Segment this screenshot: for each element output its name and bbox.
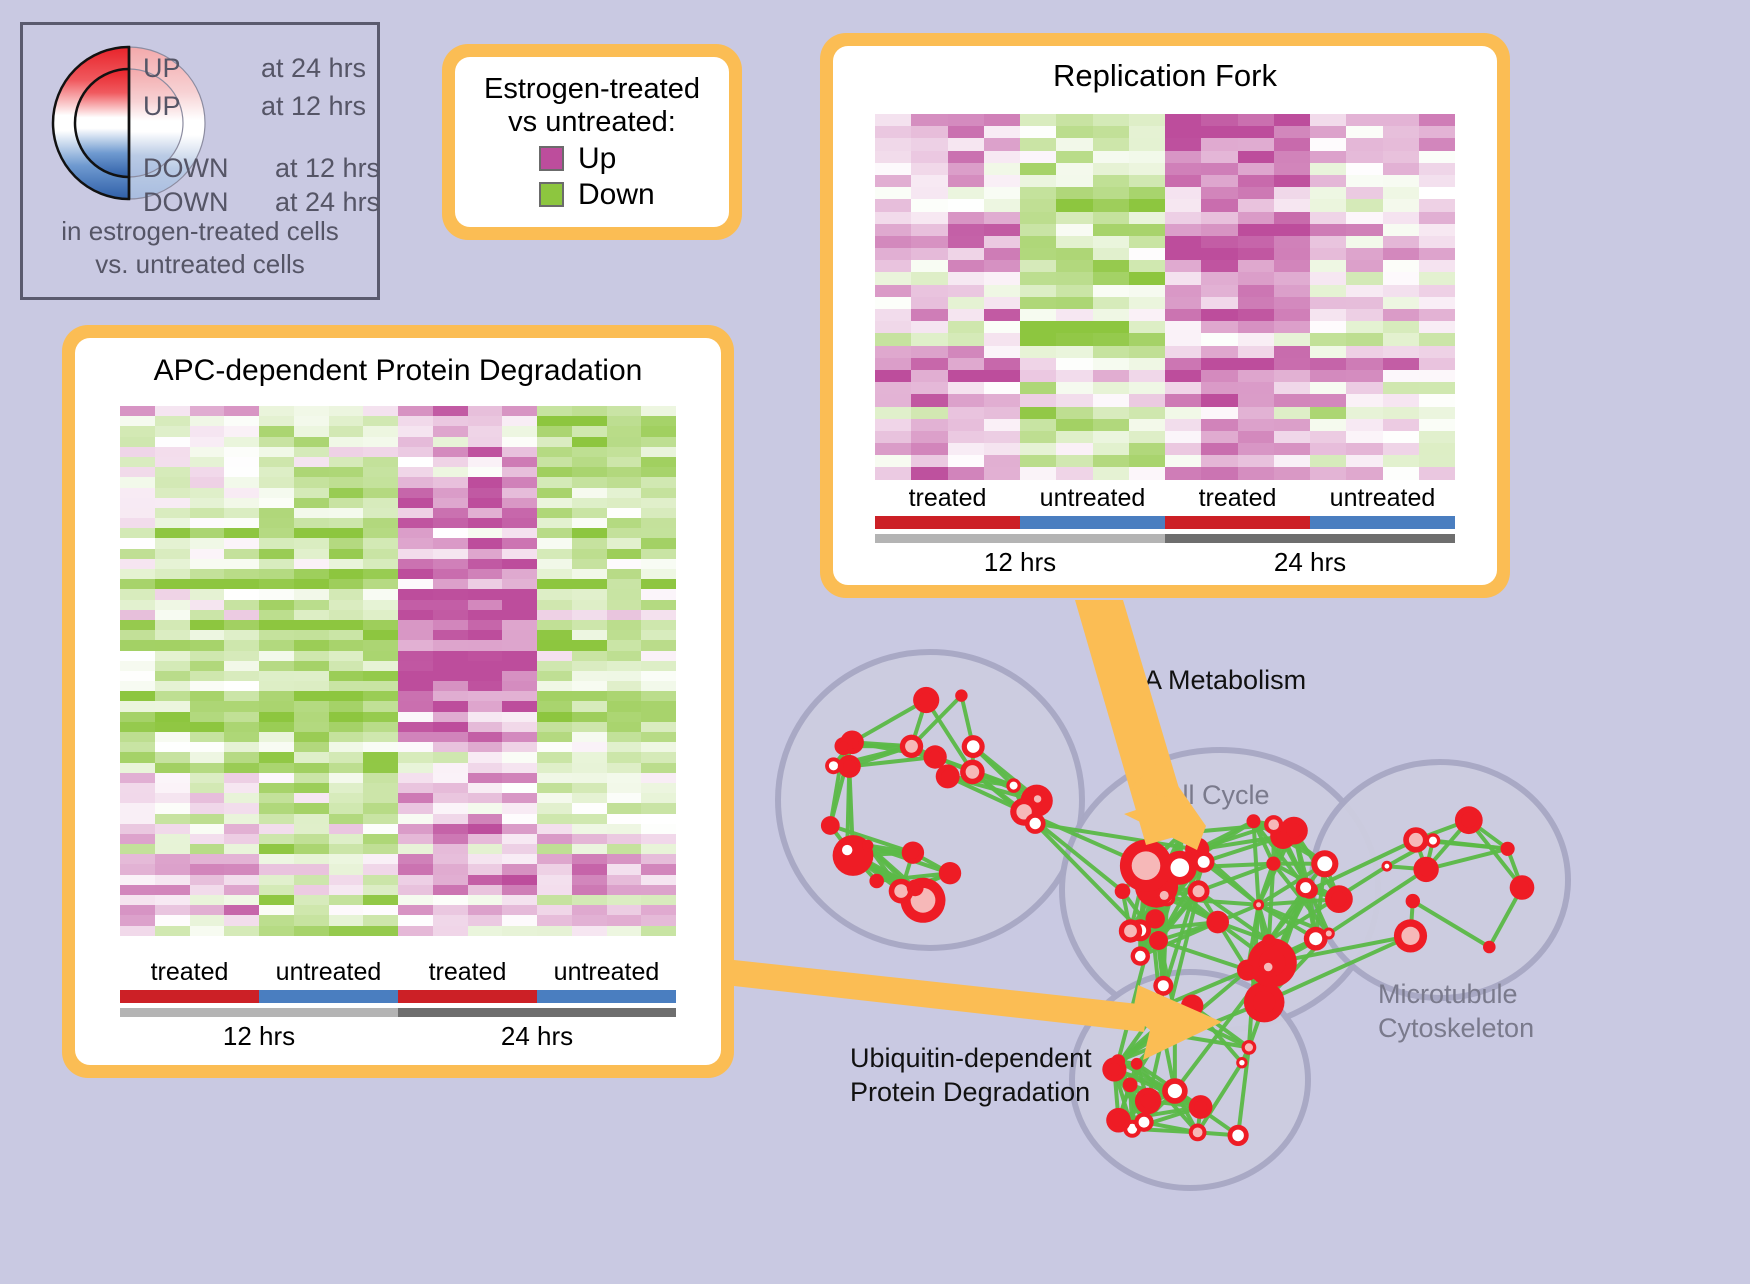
network-svg: [770, 600, 1750, 1279]
color-key-box: UP at 24 hrs UP at 12 hrs DOWN at 12 hrs…: [20, 22, 380, 300]
cluster-label-cytoskeleton: Cytoskeleton: [1378, 1012, 1534, 1045]
heatmap-apc: [120, 406, 676, 936]
network-node: [1244, 982, 1285, 1023]
legend-label-up: Up: [578, 142, 616, 176]
color-bar-segment-0: [120, 1008, 398, 1017]
network-node: [1168, 1005, 1182, 1019]
network-node: [1006, 778, 1021, 793]
legend-title-line2: vs untreated:: [465, 106, 719, 139]
network-node: [1119, 919, 1142, 942]
color-bar-segment-0: [875, 516, 1020, 529]
key-time-1: at 12 hrs: [261, 91, 366, 122]
network-node: [862, 840, 873, 851]
network-node: [1253, 899, 1264, 910]
network-node: [1406, 894, 1420, 908]
network-node: [1266, 857, 1280, 871]
key-word-3: DOWN: [143, 187, 228, 218]
network-node: [1510, 875, 1535, 900]
network-node: [1153, 976, 1173, 996]
network-node: [923, 745, 946, 768]
network-node: [955, 689, 967, 701]
network-node: [1131, 946, 1150, 965]
color-bar-segment-1: [1165, 534, 1455, 543]
condition-label-2: treated: [398, 958, 537, 987]
cluster-label-microtubule: Microtubule: [1378, 978, 1518, 1011]
network-node: [1280, 817, 1308, 845]
legend-swatch-up: [539, 146, 564, 171]
network-node: [835, 737, 853, 755]
network-node: [1237, 960, 1258, 981]
condition-color-bar-replication-fork: [875, 516, 1455, 529]
network-node: [838, 755, 861, 778]
network-node: [1403, 827, 1428, 852]
network-node: [821, 816, 840, 835]
network-node: [1106, 1108, 1131, 1133]
condition-label-1: untreated: [259, 958, 398, 987]
network-node: [1156, 887, 1172, 903]
condition-label-0: treated: [875, 484, 1020, 513]
condition-label-3: untreated: [1310, 484, 1455, 513]
network-node: [1193, 851, 1215, 873]
legend-title-line1: Estrogen-treated: [465, 73, 719, 106]
network-node: [1325, 885, 1353, 913]
network-node: [939, 862, 961, 884]
network-node: [1262, 934, 1275, 947]
key-word-2: DOWN: [143, 153, 228, 184]
network-node: [913, 687, 939, 713]
network-node: [1102, 1057, 1126, 1081]
cluster-label-ubiquitin-line2: Protein Degradation: [850, 1076, 1090, 1109]
network-node: [1228, 1125, 1249, 1146]
color-bar-segment-1: [398, 1008, 676, 1017]
condition-labels-replication-fork: treated untreated treated untreated: [875, 484, 1455, 513]
key-word-0: UP: [143, 53, 181, 84]
color-bar-segment-3: [1310, 516, 1455, 529]
color-bar-segment-2: [1165, 516, 1310, 529]
key-time-3: at 24 hrs: [275, 187, 380, 218]
network-node: [869, 874, 884, 889]
network-node: [1146, 909, 1165, 928]
network-node: [838, 841, 857, 860]
legend-swatch-down: [539, 182, 564, 207]
network-node: [1382, 861, 1393, 872]
network-node: [960, 760, 985, 785]
network-node: [907, 879, 924, 896]
network-node: [1031, 792, 1044, 805]
color-bar-segment-1: [1020, 516, 1165, 529]
network-node: [1115, 883, 1131, 899]
network-node: [1455, 806, 1483, 834]
condition-label-3: untreated: [537, 958, 676, 987]
cluster-label-ubiquitin-line1: Ubiquitin-dependent: [850, 1042, 1092, 1075]
panel-apc-dependent-protein-degradation: APC-dependent Protein Degradation treate…: [62, 325, 734, 1078]
network-node: [1247, 814, 1261, 828]
network-node: [1483, 941, 1496, 954]
condition-labels-apc: treated untreated treated untreated: [120, 958, 676, 987]
color-key-footer-line2: vs. untreated cells: [23, 248, 377, 281]
network-node: [1149, 931, 1168, 950]
cluster-label-dna-metabolism: DNA Metabolism: [1105, 665, 1306, 696]
network-node: [1134, 1113, 1153, 1132]
color-key-footer: in estrogen-treated cells vs. untreated …: [23, 215, 377, 280]
network-node: [1394, 919, 1427, 952]
color-bar-segment-1: [259, 990, 398, 1003]
network-node: [900, 735, 923, 758]
key-word-1: UP: [143, 91, 181, 122]
cluster-label-cell-cycle: Cell Cycle: [1148, 780, 1270, 811]
time-label-1: 24 hrs: [1165, 547, 1455, 578]
network-node: [1242, 1040, 1257, 1055]
network-diagram: DNA Metabolism Cell Cycle Microtubule Cy…: [770, 600, 1750, 1279]
network-node: [1323, 928, 1335, 940]
network-node: [1162, 1078, 1188, 1104]
time-color-bar-replication-fork: [875, 534, 1455, 543]
network-node: [1131, 1058, 1143, 1070]
color-bar-segment-2: [398, 990, 537, 1003]
color-bar-segment-0: [875, 534, 1165, 543]
time-label-0: 12 hrs: [120, 1021, 398, 1052]
panel-replication-fork: Replication Fork treated untreated treat…: [820, 33, 1510, 598]
network-node: [1311, 850, 1338, 877]
network-node: [1189, 1124, 1207, 1142]
time-labels-apc: 12 hrs 24 hrs: [120, 1021, 676, 1052]
network-node: [1150, 1021, 1176, 1047]
network-node: [1296, 878, 1316, 898]
network-node: [1135, 1088, 1161, 1114]
network-node: [1260, 959, 1276, 975]
panel-title-replication-fork: Replication Fork: [833, 46, 1497, 94]
legend-panel: Estrogen-treated vs untreated: Up Down: [442, 44, 742, 240]
network-node: [1025, 813, 1046, 834]
color-bar-segment-3: [537, 990, 676, 1003]
legend-label-down: Down: [578, 178, 655, 212]
network-node: [1206, 911, 1229, 934]
network-node: [1413, 857, 1438, 882]
network-node: [936, 764, 960, 788]
heatmap-replication-fork: [875, 114, 1455, 480]
time-color-bar-apc: [120, 1008, 676, 1017]
time-label-0: 12 hrs: [875, 547, 1165, 578]
network-node: [1501, 842, 1515, 856]
time-labels-replication-fork: 12 hrs 24 hrs: [875, 547, 1455, 578]
condition-label-2: treated: [1165, 484, 1310, 513]
network-node: [902, 842, 924, 864]
network-node: [962, 735, 985, 758]
condition-label-1: untreated: [1020, 484, 1165, 513]
network-node: [1236, 1057, 1247, 1068]
time-label-1: 24 hrs: [398, 1021, 676, 1052]
network-node: [1181, 995, 1203, 1017]
network-node: [1149, 998, 1168, 1017]
legend-title: Estrogen-treated vs untreated:: [455, 73, 729, 140]
color-bar-segment-0: [120, 990, 259, 1003]
key-time-0: at 24 hrs: [261, 53, 366, 84]
condition-label-0: treated: [120, 958, 259, 987]
panel-title-apc: APC-dependent Protein Degradation: [75, 338, 721, 388]
network-node: [1175, 826, 1188, 839]
color-key-footer-line1: in estrogen-treated cells: [23, 215, 377, 248]
network-node: [1189, 1095, 1213, 1119]
legend-item-down: Down: [455, 178, 729, 212]
key-time-2: at 12 hrs: [275, 153, 380, 184]
network-node: [1123, 1078, 1138, 1093]
legend-item-up: Up: [455, 142, 729, 176]
network-node: [1188, 880, 1210, 902]
condition-color-bar-apc: [120, 990, 676, 1003]
